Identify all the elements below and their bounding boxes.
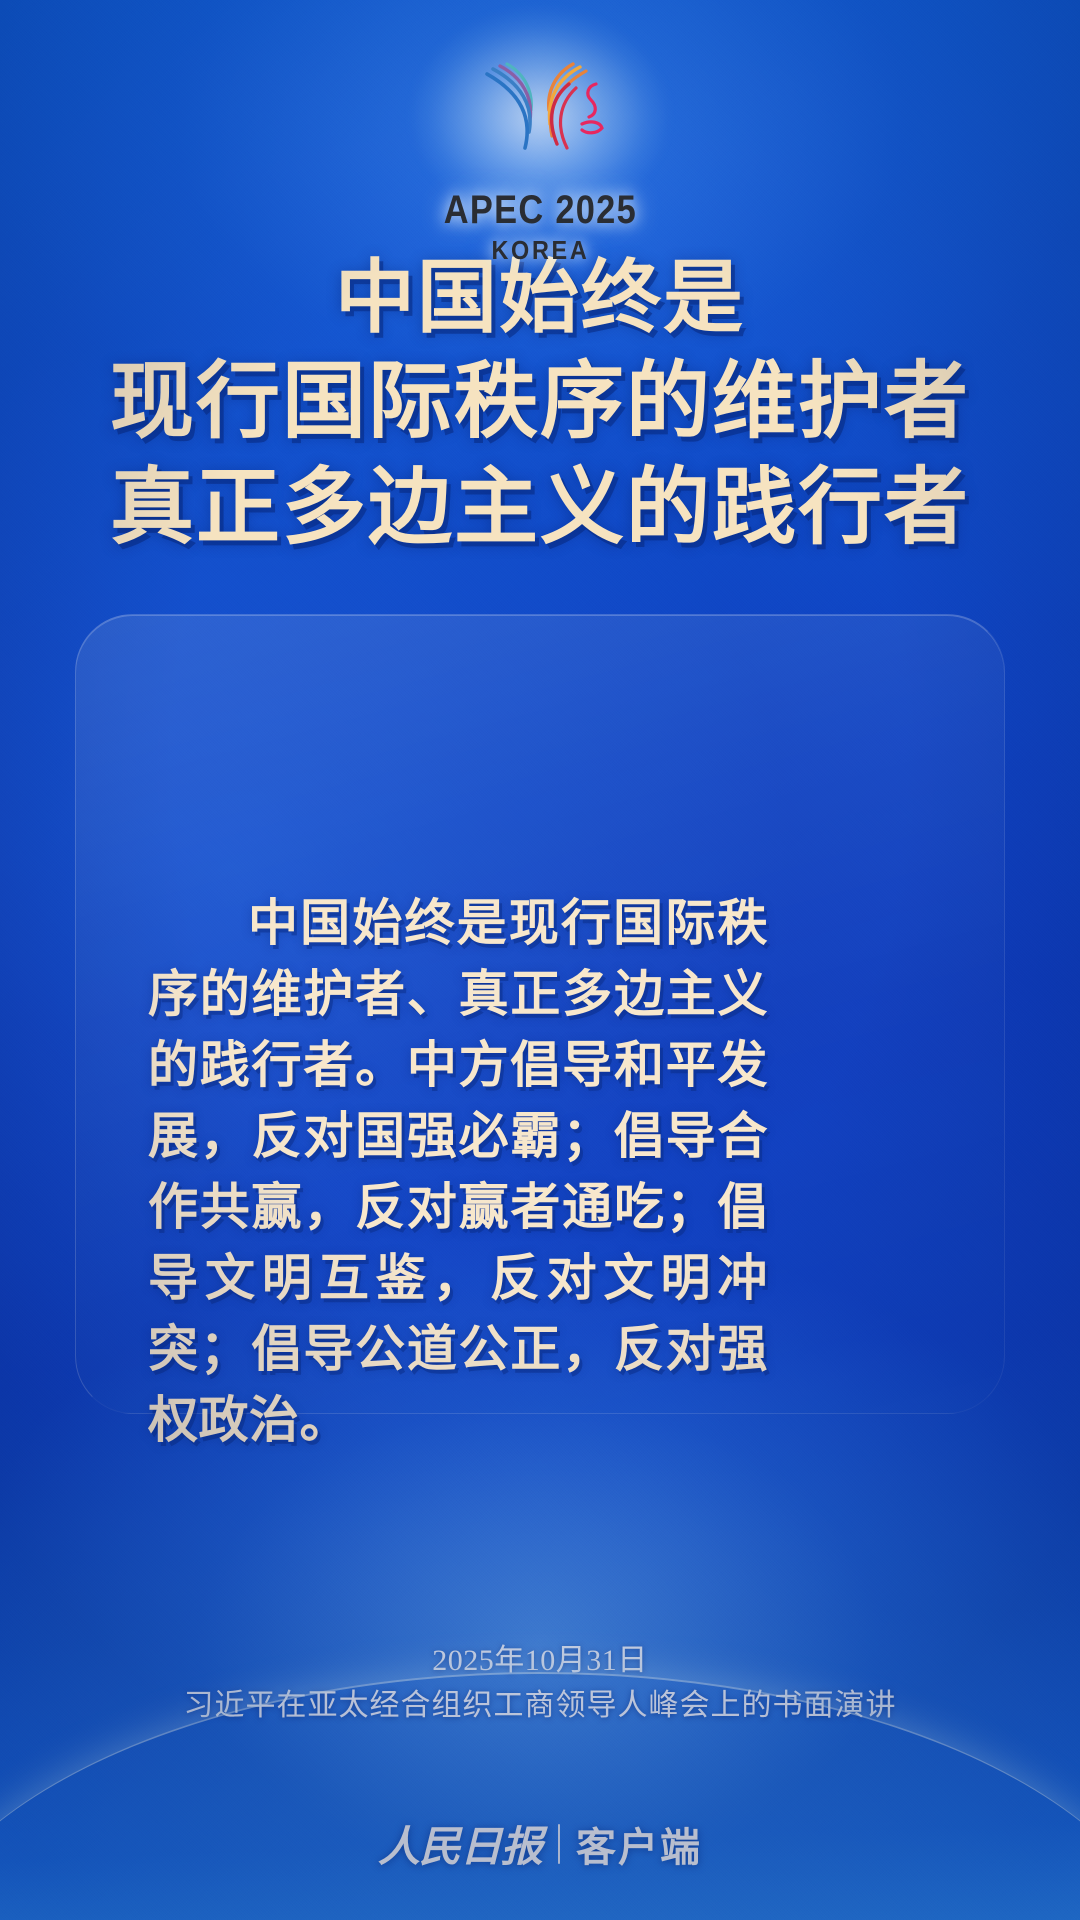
headline: 中国始终是 现行国际秩序的维护者 真正多边主义的践行者 [0,248,1080,560]
headline-line-3: 真正多边主义的践行者 [0,455,1080,561]
footer-brand: 人民日报 客户端 [0,1813,1080,1874]
brand-divider [558,1824,560,1864]
poster-root: APEC 2025 KOREA 中国始终是 现行国际秩序的维护者 真正多边主义的… [0,0,1080,1920]
app-name-label: 客户端 [576,1815,702,1873]
headline-line-2: 现行国际秩序的维护者 [0,349,1080,455]
apec-logo-block: APEC 2025 KOREA [0,28,1080,266]
apec-host-country: KOREA [491,235,589,266]
quote-body-text: 中国始终是现行国际秩序的维护者、真正多边主义的践行者。中方倡导和平发展，反对国强… [148,888,768,1456]
apec-korea-emblem-icon [445,46,635,181]
logo-glow-halo [390,28,690,198]
apec-wordmark: APEC 2025 [443,188,636,233]
peoples-daily-logo: 人民日报 [378,1813,542,1874]
